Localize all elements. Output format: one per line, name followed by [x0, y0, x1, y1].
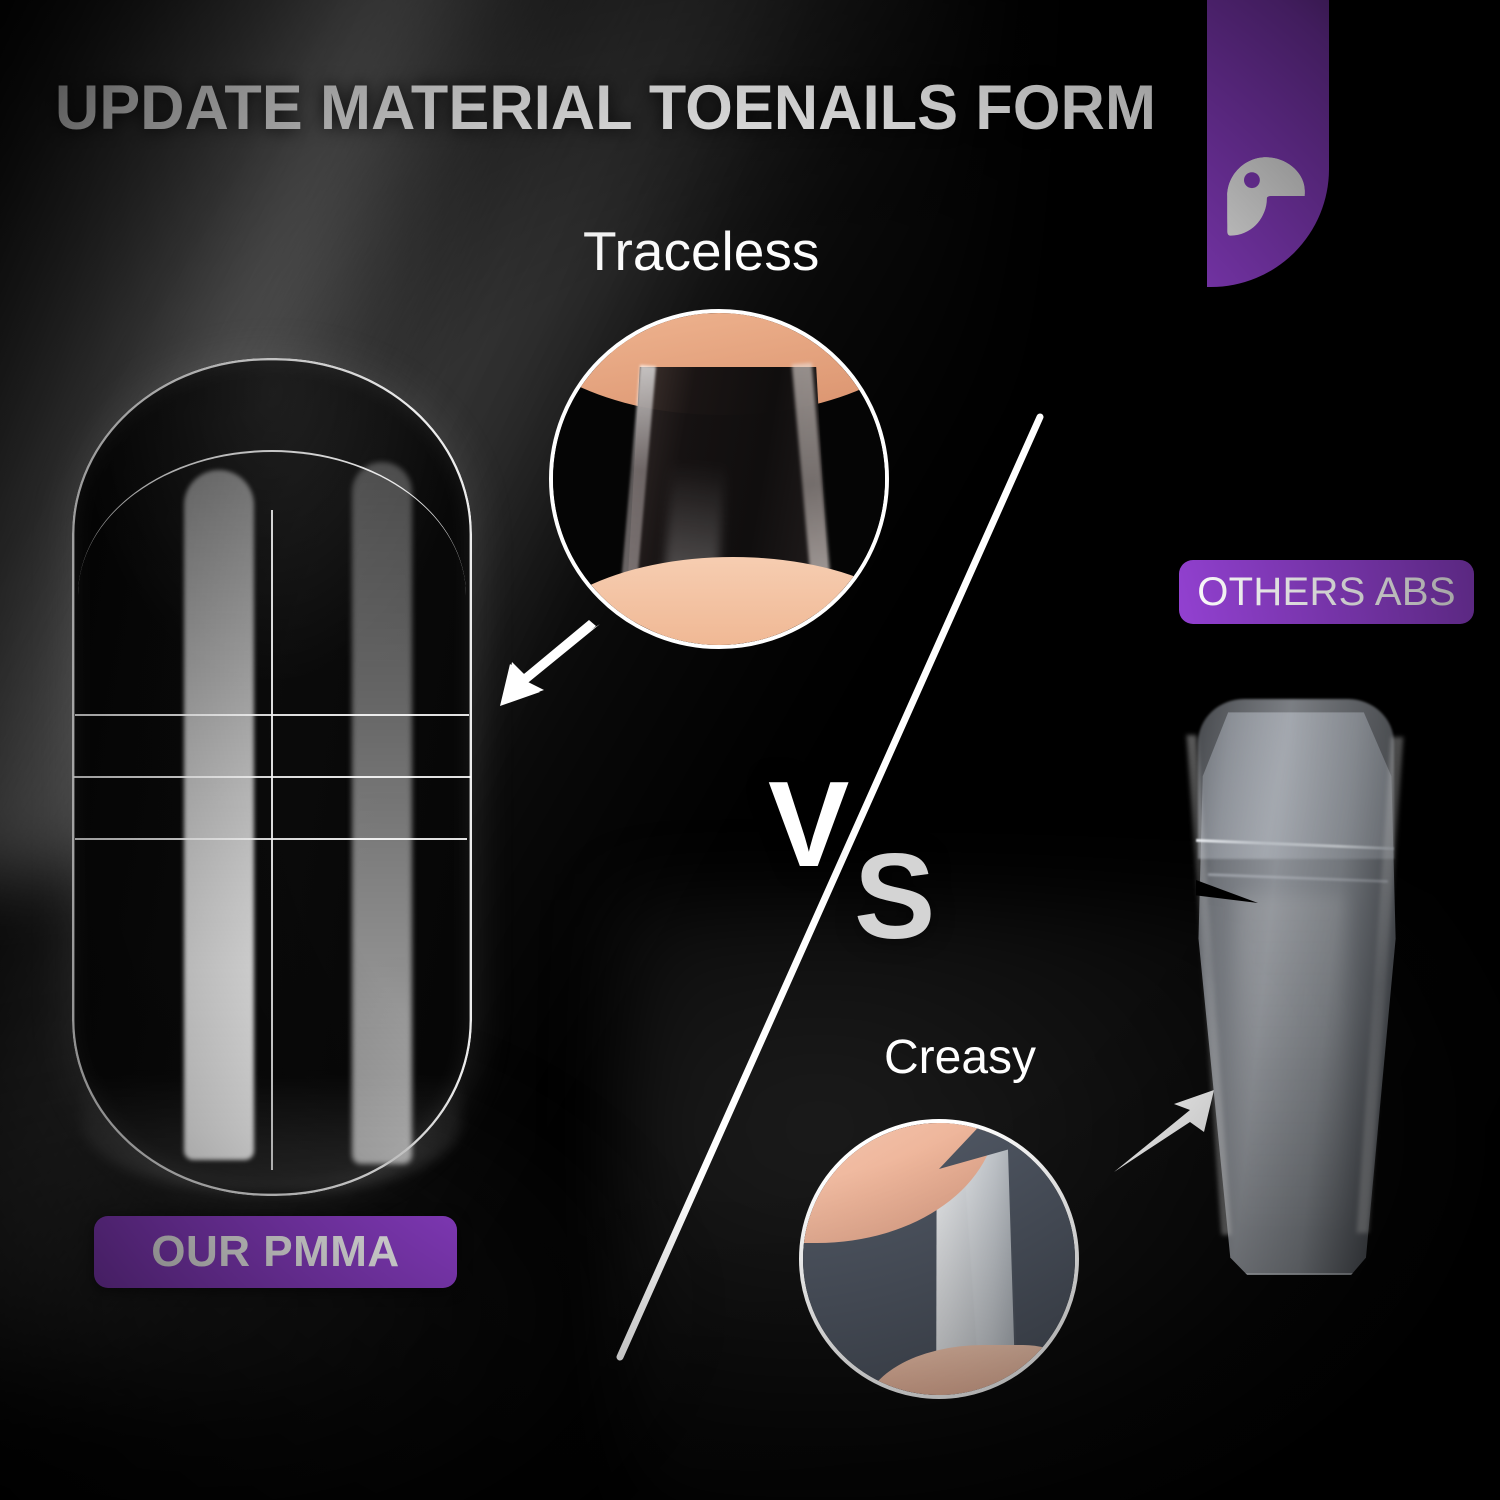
infographic-canvas: UPDATE MATERIAL TOENAILS FORM Traceless — [0, 0, 1500, 1500]
vignette-overlay — [0, 0, 1500, 1500]
